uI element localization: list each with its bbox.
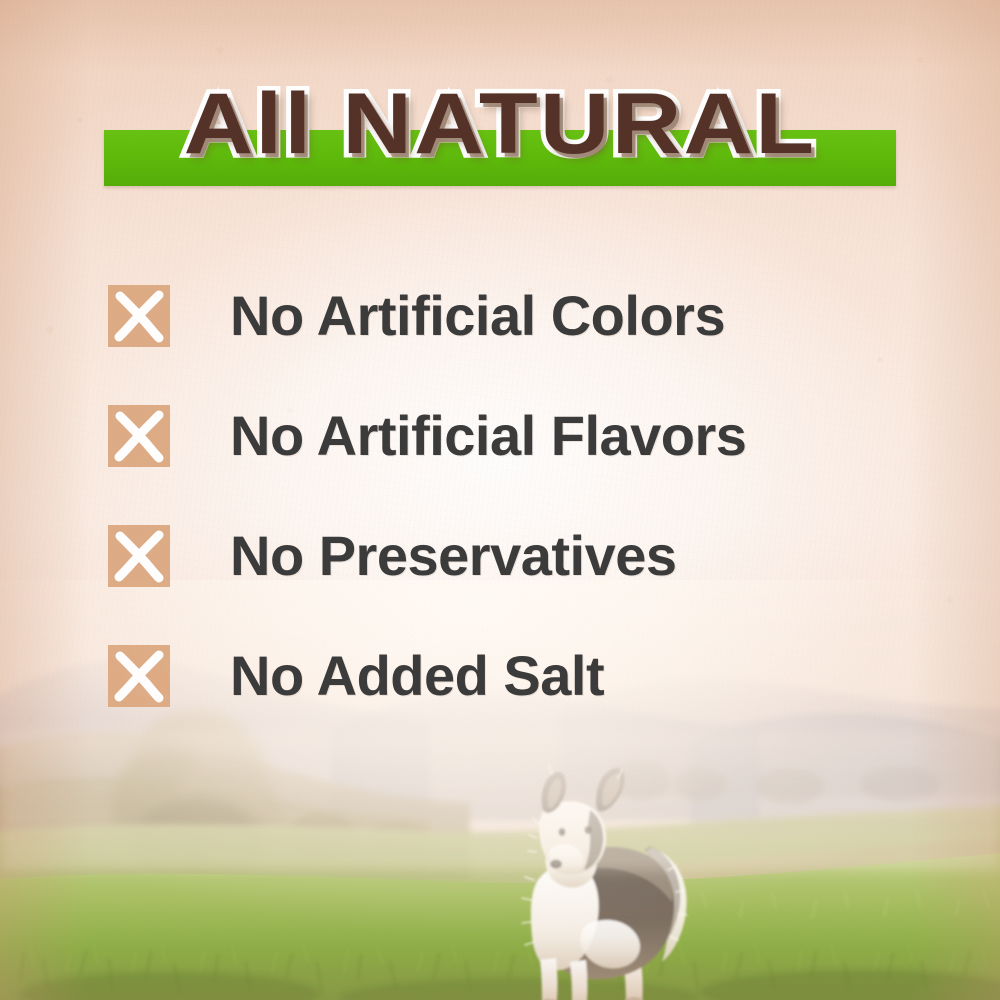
list-item-label: No Artificial Colors: [230, 286, 725, 346]
list-item: No Preservatives: [108, 496, 908, 616]
list-item: No Artificial Colors: [108, 256, 908, 376]
page-title: All NATURAL: [0, 76, 1000, 172]
list-item-label: No Preservatives: [230, 526, 677, 586]
all-natural-poster: All NATURAL No Artificial Colors No Arti…: [0, 0, 1000, 1000]
banner: All NATURAL: [0, 76, 1000, 196]
list-item-label: No Artificial Flavors: [230, 406, 746, 466]
benefits-list: No Artificial Colors No Artificial Flavo…: [108, 256, 908, 736]
x-mark-icon: [108, 405, 170, 467]
x-mark-icon: [108, 285, 170, 347]
x-mark-icon: [108, 645, 170, 707]
list-item: No Artificial Flavors: [108, 376, 908, 496]
list-item: No Added Salt: [108, 616, 908, 736]
list-item-label: No Added Salt: [230, 646, 604, 706]
x-mark-icon: [108, 525, 170, 587]
